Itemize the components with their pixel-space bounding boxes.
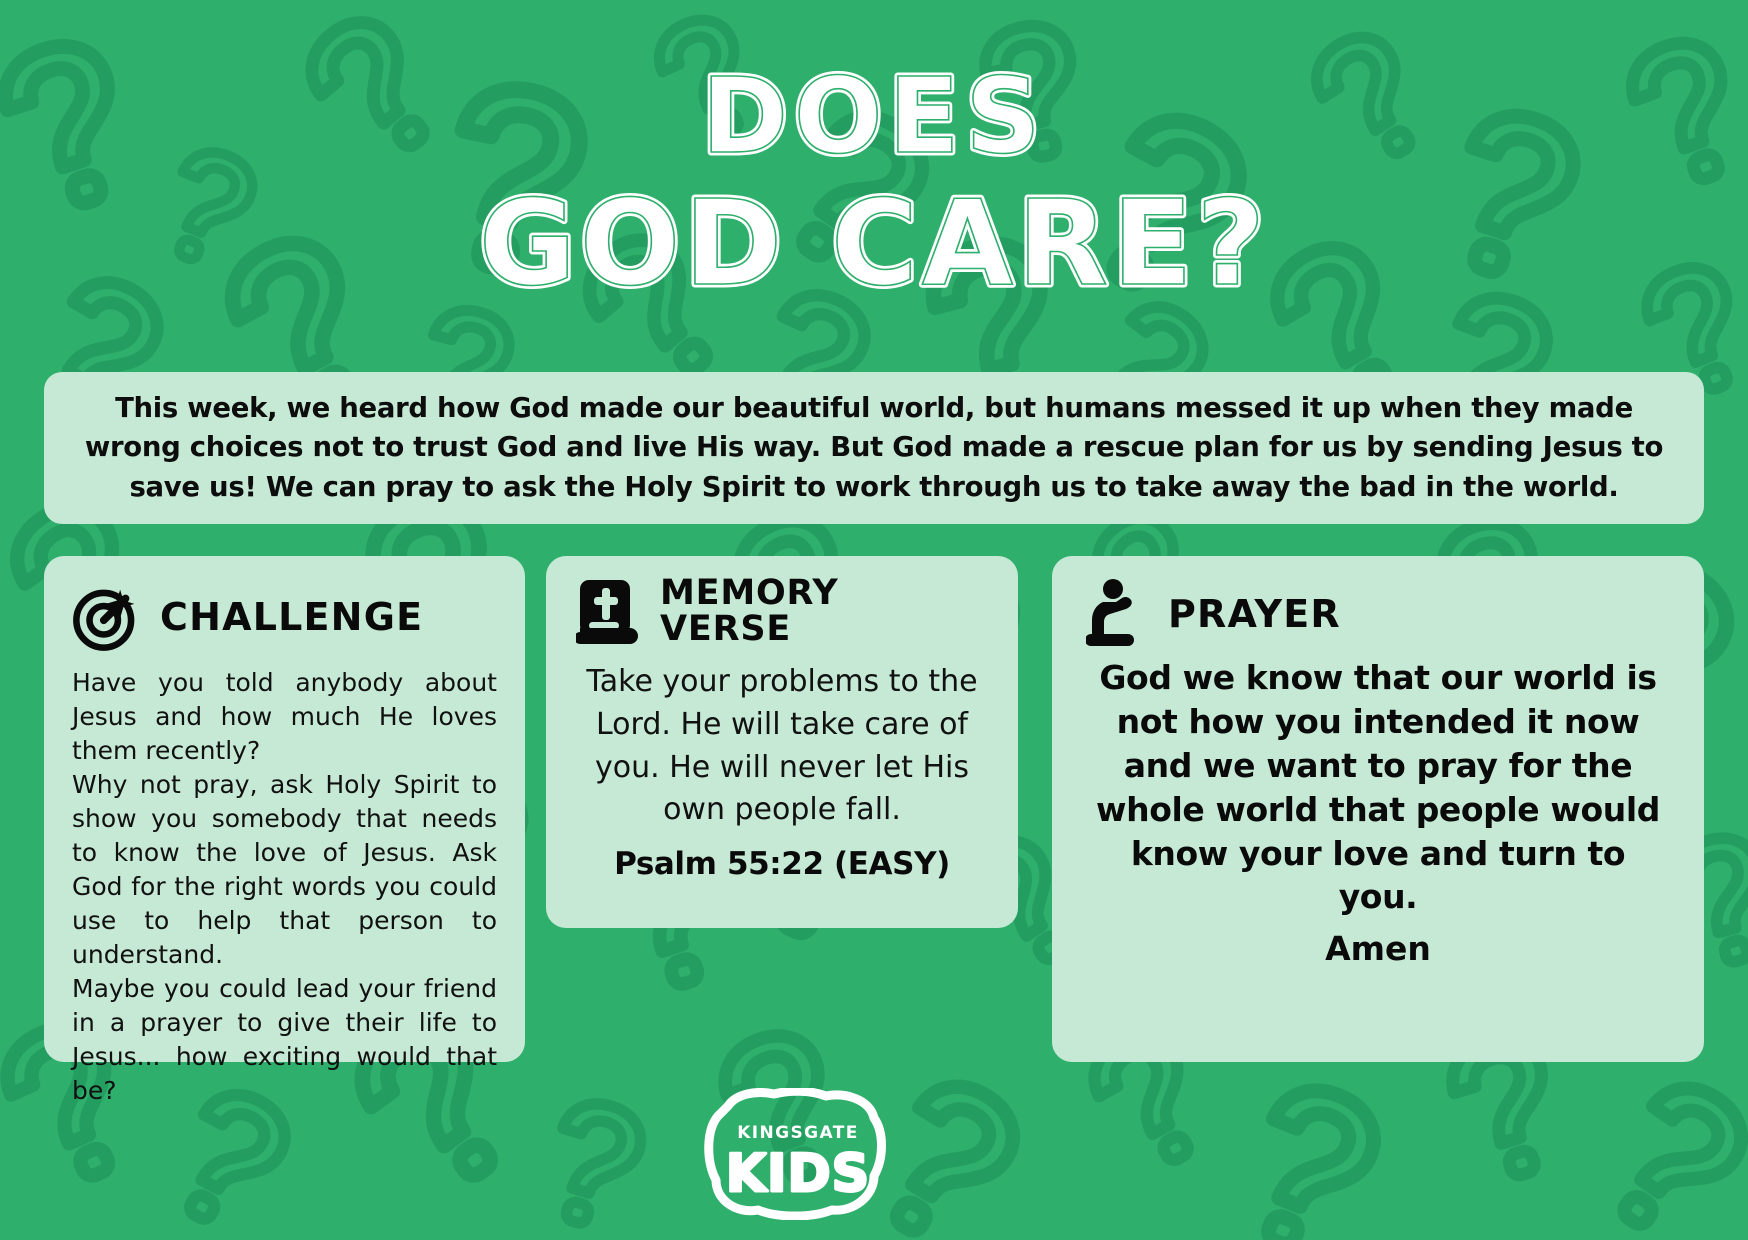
kneeling-person-praying-icon bbox=[1086, 578, 1146, 650]
intro-text: This week, we heard how God made our bea… bbox=[78, 389, 1670, 506]
challenge-paragraph-1: Have you told anybody about Jesus and ho… bbox=[72, 666, 497, 768]
prayer-card: PRAYER God we know that our world is not… bbox=[1052, 556, 1704, 1062]
prayer-card-title: PRAYER bbox=[1168, 595, 1341, 634]
logo-top-text: KINGSGATE bbox=[737, 1123, 859, 1143]
prayer-card-text: God we know that our world is not how yo… bbox=[1052, 650, 1704, 919]
memory-verse-text: Take your problems to the Lord. He will … bbox=[546, 647, 1018, 831]
memory-verse-card: MEMORY VERSE Take your problems to the L… bbox=[546, 556, 1018, 928]
challenge-card-header: CHALLENGE bbox=[44, 556, 525, 652]
target-icon bbox=[72, 582, 142, 652]
title-line-2-inner-outline: GOD CARE? bbox=[479, 174, 1269, 312]
title-artwork: DOES DOES GOD CARE? GOD CARE? bbox=[464, 46, 1284, 346]
challenge-paragraph-3: Maybe you could lead your friend in a pr… bbox=[72, 972, 497, 1108]
memory-verse-card-title: MEMORY VERSE bbox=[660, 576, 839, 647]
memory-verse-card-header: MEMORY VERSE bbox=[546, 556, 1018, 647]
prayer-card-header: PRAYER bbox=[1052, 556, 1704, 650]
memory-verse-title-line-1: MEMORY bbox=[660, 573, 839, 613]
challenge-card: CHALLENGE Have you told anybody about Je… bbox=[44, 556, 525, 1062]
title-line-1-inner-outline: DOES bbox=[702, 55, 1047, 177]
challenge-card-title: CHALLENGE bbox=[160, 598, 423, 637]
intro-banner: This week, we heard how God made our bea… bbox=[44, 372, 1704, 524]
prayer-amen: Amen bbox=[1052, 929, 1704, 968]
memory-verse-reference: Psalm 55:22 (EASY) bbox=[546, 846, 1018, 882]
kingsgate-kids-logo: KINGSGATE KIDS bbox=[698, 1088, 898, 1220]
cards-row: CHALLENGE Have you told anybody about Je… bbox=[0, 556, 1748, 1076]
bible-cross-icon bbox=[576, 578, 638, 646]
challenge-paragraph-2: Why not pray, ask Holy Spirit to show yo… bbox=[72, 768, 497, 972]
challenge-card-body: Have you told anybody about Jesus and ho… bbox=[44, 652, 525, 1108]
poster-root: DOES DOES GOD CARE? GOD CARE? This week,… bbox=[0, 0, 1748, 1240]
page-title: DOES DOES GOD CARE? GOD CARE? bbox=[0, 46, 1748, 346]
logo-main-text: KIDS bbox=[726, 1144, 870, 1204]
memory-verse-title-line-2: VERSE bbox=[660, 609, 791, 649]
